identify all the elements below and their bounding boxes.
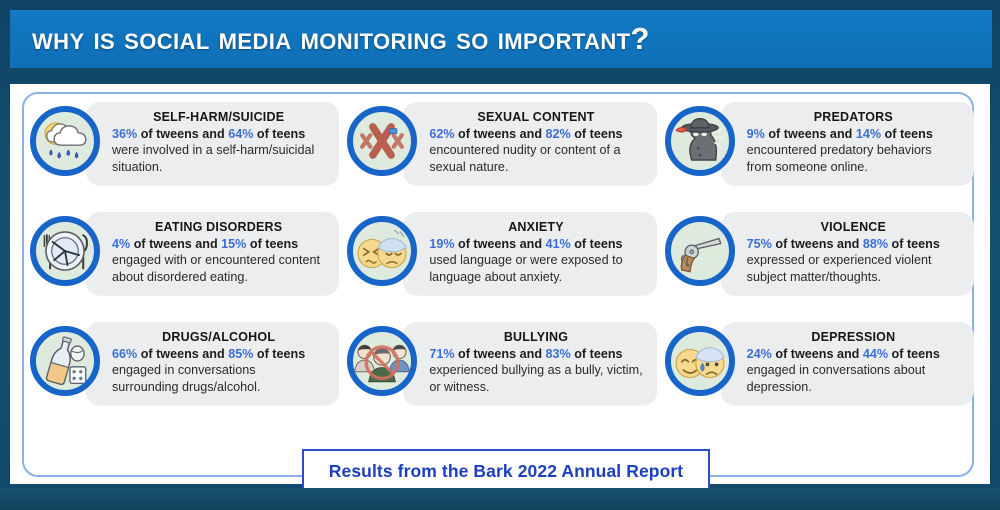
stat-body: 24% of tweens and 44% of teens engaged i… (747, 346, 960, 395)
mid-text: of tweens and (130, 237, 221, 251)
bold-word: teens (272, 347, 305, 361)
stat-bubble: PREDATORS 9% of tweens and 14% of teens … (721, 102, 974, 185)
stat-bubble: DRUGS/ALCOHOL 66% of tweens and 85% of t… (86, 322, 339, 405)
stat-bubble: EATING DISORDERS 4% of tweens and 15% of… (86, 212, 339, 295)
stat-card-anxiety: ANXIETY 19% of tweens and 41% of teens u… (347, 206, 656, 316)
stat-body: 4% of tweens and 15% of teens engaged wi… (112, 236, 325, 285)
bold-word: teens (590, 347, 623, 361)
stat-title: VIOLENCE (747, 220, 960, 235)
tween-percent: 75% (747, 237, 772, 251)
stat-title: SEXUAL CONTENT (429, 110, 642, 125)
tween-percent: 24% (747, 347, 772, 361)
bold-word: teens (590, 237, 623, 251)
stat-body: 66% of tweens and 85% of teens engaged i… (112, 346, 325, 395)
lead-text: of (571, 127, 590, 141)
stat-body: 36% of tweens and 64% of teens were invo… (112, 126, 325, 175)
tween-percent: 19% (429, 237, 454, 251)
teen-percent: 14% (856, 127, 881, 141)
bottom-strip (0, 488, 1000, 510)
lead-text: of (571, 237, 590, 251)
stat-body: 9% of tweens and 14% of teens encountere… (747, 126, 960, 175)
mid-text: of tweens and (137, 347, 228, 361)
mid-text: of tweens and (765, 127, 856, 141)
stat-title: SELF-HARM/SUICIDE (112, 110, 325, 125)
teen-percent: 82% (546, 127, 571, 141)
bold-word: teens (907, 237, 940, 251)
stat-card-predators: PREDATORS 9% of tweens and 14% of teens … (665, 96, 974, 206)
footer-label: Results from the Bark 2022 Annual Report (329, 461, 683, 482)
tail-text: engaged in conversations surrounding dru… (112, 363, 260, 393)
teen-percent: 85% (228, 347, 253, 361)
predator-spy-icon (665, 106, 735, 176)
xxx-rating-icon (347, 106, 417, 176)
tail-text: encountered predatory behaviors from som… (747, 143, 932, 173)
stat-card-drugs-alcohol: DRUGS/ALCOHOL 66% of tweens and 85% of t… (30, 316, 339, 426)
tail-text: were involved in a self-harm/suicidal si… (112, 143, 314, 173)
stat-title: DRUGS/ALCOHOL (112, 330, 325, 345)
stat-card-bullying: BULLYING 71% of tweens and 83% of teens … (347, 316, 656, 426)
stat-card-depression: DEPRESSION 24% of tweens and 44% of teen… (665, 316, 974, 426)
stat-title: ANXIETY (429, 220, 642, 235)
bold-word: teens (272, 127, 305, 141)
revolver-gun-icon (665, 216, 735, 286)
tail-text: encountered nudity or content of a sexua… (429, 143, 620, 173)
stat-bubble: ANXIETY 19% of tweens and 41% of teens u… (403, 212, 656, 295)
teen-percent: 64% (228, 127, 253, 141)
footer-callout-box: Results from the Bark 2022 Annual Report (302, 449, 710, 493)
anxious-faces-icon (347, 216, 417, 286)
sad-crying-faces-icon (665, 326, 735, 396)
stat-bubble: SELF-HARM/SUICIDE 36% of tweens and 64% … (86, 102, 339, 185)
lead-text: of (253, 347, 272, 361)
broken-plate-icon (30, 216, 100, 286)
bold-word: teens (900, 127, 933, 141)
tween-percent: 66% (112, 347, 137, 361)
teen-percent: 88% (863, 237, 888, 251)
mid-text: of tweens and (137, 127, 228, 141)
tail-text: expressed or experienced violent subject… (747, 253, 932, 283)
lead-text: of (888, 237, 907, 251)
stats-grid: SELF-HARM/SUICIDE 36% of tweens and 64% … (30, 96, 974, 426)
stat-card-sexual-content: SEXUAL CONTENT 62% of tweens and 82% of … (347, 96, 656, 206)
tail-text: used language or were exposed to languag… (429, 253, 622, 283)
bold-word: teens (907, 347, 940, 361)
mid-text: of tweens and (455, 127, 546, 141)
header-bar: Why is social media monitoring so Import… (10, 10, 992, 68)
stat-title: BULLYING (429, 330, 642, 345)
lead-text: of (246, 237, 265, 251)
teen-percent: 15% (221, 237, 246, 251)
lead-text: of (253, 127, 272, 141)
lead-text: of (571, 347, 590, 361)
no-bullying-icon (347, 326, 417, 396)
tween-percent: 4% (112, 237, 130, 251)
tween-percent: 71% (429, 347, 454, 361)
teen-percent: 83% (546, 347, 571, 361)
page-title: Why is social media monitoring so Import… (32, 21, 650, 57)
teen-percent: 44% (863, 347, 888, 361)
bold-word: teens (590, 127, 623, 141)
mid-text: of tweens and (772, 347, 863, 361)
bold-word: teens (265, 237, 298, 251)
stat-bubble: BULLYING 71% of tweens and 83% of teens … (403, 322, 656, 405)
lead-text: of (888, 347, 907, 361)
infographic-slide: Why is social media monitoring so Import… (0, 0, 1000, 510)
tail-text: experienced bullying as a bully, victim,… (429, 363, 642, 393)
tween-percent: 9% (747, 127, 765, 141)
stat-bubble: VIOLENCE 75% of tweens and 88% of teens … (721, 212, 974, 295)
mid-text: of tweens and (772, 237, 863, 251)
lead-text: of (881, 127, 900, 141)
stat-card-eating-disorders: EATING DISORDERS 4% of tweens and 15% of… (30, 206, 339, 316)
mid-text: of tweens and (455, 347, 546, 361)
stat-body: 75% of tweens and 88% of teens expressed… (747, 236, 960, 285)
tween-percent: 36% (112, 127, 137, 141)
stat-body: 62% of tweens and 82% of teens encounter… (429, 126, 642, 175)
stat-body: 19% of tweens and 41% of teens used lang… (429, 236, 642, 285)
stat-title: EATING DISORDERS (112, 220, 325, 235)
tween-percent: 62% (429, 127, 454, 141)
stat-bubble: SEXUAL CONTENT 62% of tweens and 82% of … (403, 102, 656, 185)
tail-text: engaged with or encountered content abou… (112, 253, 320, 283)
stat-card-violence: VIOLENCE 75% of tweens and 88% of teens … (665, 206, 974, 316)
stat-body: 71% of tweens and 83% of teens experienc… (429, 346, 642, 395)
stat-card-self-harm: SELF-HARM/SUICIDE 36% of tweens and 64% … (30, 96, 339, 206)
tail-text: engaged in conversations about depressio… (747, 363, 926, 393)
stat-title: PREDATORS (747, 110, 960, 125)
bottle-pills-icon (30, 326, 100, 396)
mid-text: of tweens and (455, 237, 546, 251)
teen-percent: 41% (546, 237, 571, 251)
rain-cloud-sun-icon (30, 106, 100, 176)
stat-title: DEPRESSION (747, 330, 960, 345)
stat-bubble: DEPRESSION 24% of tweens and 44% of teen… (721, 322, 974, 405)
